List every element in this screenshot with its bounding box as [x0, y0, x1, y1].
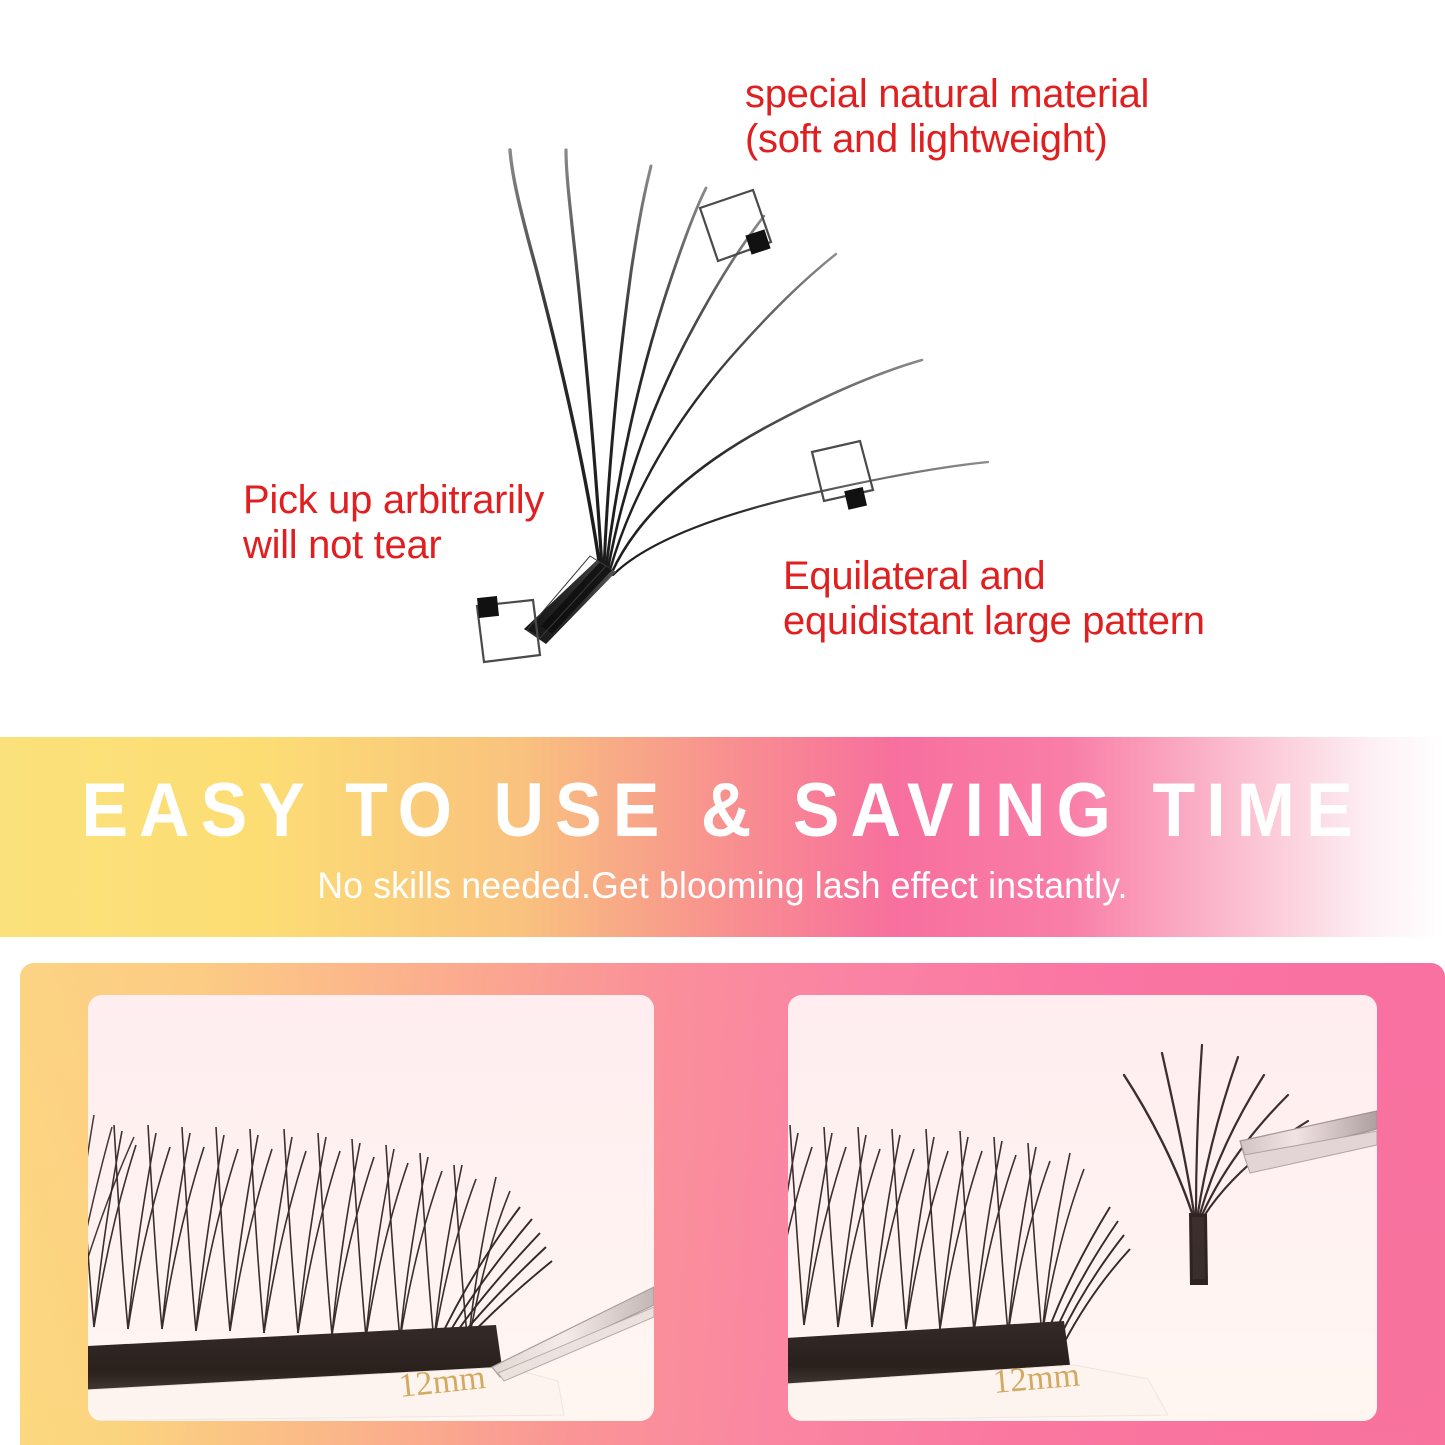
tray-size-label-right: 12mm	[991, 1357, 1081, 1401]
lash-strands	[510, 150, 988, 575]
easy-to-use-banner: EASY TO USE & SAVING TIME No skills need…	[0, 737, 1445, 937]
lash-fan-pickup-photo-right: 12mm	[788, 995, 1377, 1421]
callout-special-natural-material: special natural material (soft and light…	[745, 72, 1149, 162]
photo-card-left: 12mm	[88, 995, 654, 1421]
callout-equilateral-equidistant: Equilateral and equidistant large patter…	[783, 554, 1205, 644]
top-feature-section: special natural material (soft and light…	[0, 0, 1445, 735]
banner-subtitle: No skills needed.Get blooming lash effec…	[29, 867, 1416, 904]
banner-title: EASY TO USE & SAVING TIME	[58, 773, 1387, 849]
lash-tray-photo-left: 12mm	[88, 995, 654, 1421]
lash-fan-illustration	[0, 0, 1445, 735]
infographic-page: special natural material (soft and light…	[0, 0, 1445, 1445]
photo-card-right: 12mm	[788, 995, 1377, 1421]
marker-equilateral-icon	[812, 441, 873, 510]
marker-material-icon	[700, 190, 771, 261]
product-photo-panel: 12mm	[20, 963, 1445, 1445]
callout-pick-up-arbitrarily: Pick up arbitrarily will not tear	[243, 478, 544, 568]
